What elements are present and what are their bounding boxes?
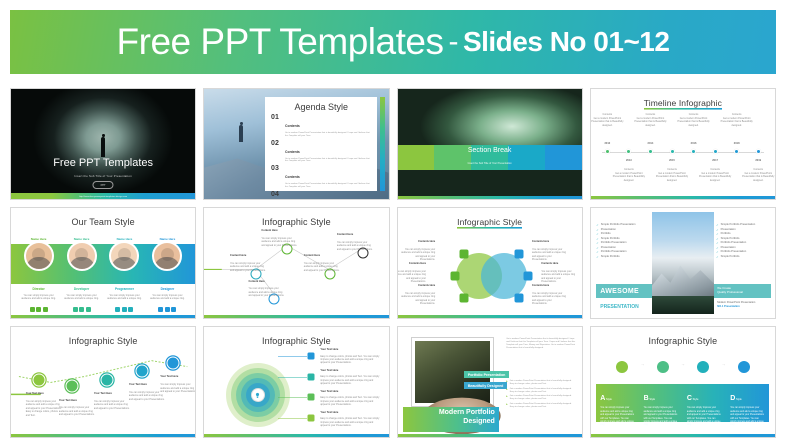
agenda-item[interactable]: 01 Contents Get a modern PowerPoint Pres…: [265, 112, 377, 138]
feature-text: Portfolio: [721, 232, 731, 236]
member-role: Programmer: [115, 287, 134, 291]
cart-icon[interactable]: [135, 365, 148, 378]
monitor-icon[interactable]: [459, 294, 468, 303]
network-connector-lines: [204, 208, 388, 311]
timeline-body: Get a modern PowerPoint Presentation tha…: [674, 117, 714, 127]
timeline-dot[interactable]: [648, 149, 653, 154]
abcd-style-word: Style: [692, 398, 699, 401]
bullet-dot-icon: ▸: [506, 403, 508, 409]
slide-thumbnail-12[interactable]: Infographic Style →→→ A StyleYou can sim…: [590, 326, 776, 438]
abcd-heading: D Style: [730, 387, 765, 405]
member-role: Developer: [74, 287, 89, 291]
agenda-card: Agenda Style 01 Contents Get a modern Po…: [265, 97, 377, 192]
abcd-column[interactable]: A StyleYou can simply impress your audie…: [596, 384, 639, 421]
bullet-text: Get a modern PowerPoint Presentation tha…: [510, 395, 576, 401]
timeline-year: 2015: [669, 159, 675, 162]
node-label: Content Here: [248, 280, 286, 283]
step-label: Your Text Here: [59, 399, 95, 402]
headline-awesome: AWESOME: [596, 284, 651, 298]
step-body: You can simply impress your audience and…: [94, 400, 130, 410]
legend-body: Easy to change colors, photos and Text. …: [320, 375, 380, 385]
timeline-block: ContentsGet a modern PowerPoint Presenta…: [674, 113, 714, 127]
timeline-year: 2019: [755, 159, 761, 162]
tag-icon[interactable]: [100, 373, 113, 386]
slide-thumbnail-04[interactable]: Timeline Infographic 2012ContentsGet a m…: [590, 88, 776, 200]
abcd-heading: B Style: [644, 387, 679, 405]
tag-portfolio-presentation: Portfolio Presentation: [464, 371, 510, 378]
member-name: Name Here: [31, 237, 47, 241]
slide-title: Section Break: [398, 147, 582, 154]
agenda-body: Get a modern PowerPoint Presentation tha…: [285, 158, 372, 164]
feature-list-item: Simple Portfolio: [596, 255, 649, 260]
arrow-icon: →: [721, 362, 725, 367]
abcd-heading: C Style: [687, 387, 722, 405]
banner-dash: -: [443, 25, 463, 59]
member-body: You can simply impress your audience and…: [63, 294, 101, 301]
timeline-body: Get a modern PowerPoint Presentation tha…: [717, 117, 757, 127]
arrow-icon: →: [681, 362, 685, 367]
timeline-year: 2014: [648, 142, 654, 145]
timeline-body: Get a modern PowerPoint Presentation tha…: [652, 172, 692, 182]
node-body: You can simply impress your audience and…: [230, 262, 268, 272]
social-icons: [73, 307, 91, 312]
banner-subtitle: Slides No 01~12: [463, 26, 670, 58]
slide-thumbnail-07[interactable]: Infographic Style Contents HereYou can s…: [397, 207, 583, 319]
phone-icon[interactable]: [515, 250, 524, 259]
bullet-text: Get a modern PowerPoint Presentation tha…: [510, 388, 576, 394]
forest-shape: [652, 296, 715, 314]
timeline-dot[interactable]: [626, 149, 631, 154]
item-label: Contents Here: [401, 240, 435, 243]
banner-main-title: Free PPT Templates: [117, 21, 444, 63]
facebook-icon[interactable]: [158, 307, 163, 312]
slide-thumbnail-08[interactable]: Simple Portfolio PresentationPresentatio…: [590, 207, 776, 319]
feature-text: Portfolio Presentation: [721, 241, 747, 245]
node-body: You can simply impress your audience and…: [261, 237, 299, 247]
step-label: Your Text Here: [26, 392, 62, 395]
member-role: Director: [33, 287, 45, 291]
member-body: You can simply impress your audience and…: [105, 294, 143, 301]
linkedin-icon[interactable]: [43, 307, 48, 312]
legend-label: Your Text Here: [320, 390, 380, 393]
member-role: Designer: [161, 287, 175, 291]
footer-gradient-bar: [11, 315, 195, 318]
node-label: Content Here: [337, 233, 375, 236]
portfolio-bullets: ▸Get a modern PowerPoint Presentation th…: [506, 380, 576, 411]
portfolio-band: Modern Portfolio Designed: [403, 407, 499, 431]
item-label: Contents Here: [397, 262, 426, 265]
timeline-year: 2016: [691, 142, 697, 145]
agenda-label: Contents: [285, 175, 300, 179]
member-body: You can simply impress your audience and…: [20, 294, 58, 301]
abcd-body: You can simply impress your audience and…: [644, 407, 679, 428]
chat-icon[interactable]: [657, 361, 669, 373]
portfolio-body: Get a modern PowerPoint Presentation tha…: [506, 338, 576, 350]
avatar-body: [154, 257, 180, 269]
legend-connector: [278, 418, 307, 419]
footer-gradient-bar: [591, 434, 775, 437]
timeline-dot[interactable]: [756, 149, 761, 154]
member-name: Name Here: [160, 237, 176, 241]
slide-title: Infographic Style: [591, 336, 775, 346]
node-body: You can simply impress your audience and…: [304, 262, 342, 272]
slide-title: Timeline Infographic: [591, 98, 775, 111]
settings-icon[interactable]: [515, 294, 524, 303]
item-body: You can simply impress your audience and…: [532, 248, 566, 262]
timeline-dot[interactable]: [713, 149, 718, 154]
item-label: Contents Here: [541, 262, 575, 265]
agenda-label: Contents: [285, 124, 300, 128]
edge-gradient-strip: [380, 97, 385, 192]
agenda-number: 01: [271, 114, 282, 121]
timeline-body: Get a modern PowerPoint Presentation tha…: [609, 172, 649, 182]
abcd-column[interactable]: D StyleYou can simply impress your audie…: [726, 384, 769, 421]
step-body: You can simply impress your audience and…: [160, 383, 196, 393]
timeline-dot[interactable]: [691, 149, 696, 154]
bullet-dot-icon: ▸: [506, 395, 508, 401]
legend-label: Your Text Here: [320, 369, 380, 372]
user-icon[interactable]: [616, 361, 628, 373]
slide-thumbnail-02[interactable]: Agenda Style 01 Contents Get a modern Po…: [203, 88, 389, 200]
bullet-dot-icon: ▸: [506, 388, 508, 394]
alert-icon[interactable]: [738, 361, 750, 373]
abcd-style-word: Style: [649, 398, 656, 401]
item-label: Contents Here: [401, 284, 435, 287]
timeline-dot[interactable]: [734, 149, 739, 154]
shopping-bag-icon[interactable]: [65, 380, 78, 393]
band-line-2: Designed: [407, 418, 495, 427]
timeline-year: 2017: [712, 159, 718, 162]
arrow-icon: →: [640, 362, 644, 367]
timeline-block: ContentsGet a modern PowerPoint Presenta…: [652, 168, 692, 182]
abcd-style-word: Style: [605, 398, 612, 401]
agenda-item[interactable]: 04 Contents Get a modern PowerPoint Pres…: [265, 189, 377, 200]
agenda-number: 04: [271, 191, 282, 198]
avatar[interactable]: [152, 241, 182, 271]
node-label: Content Here: [304, 254, 342, 257]
timeline-body: Get a modern PowerPoint Presentation tha…: [590, 117, 628, 127]
item-label: Contents Here: [532, 284, 566, 287]
facebook-icon[interactable]: [30, 307, 35, 312]
timeline-block: ContentsGet a modern PowerPoint Presenta…: [738, 168, 776, 182]
timeline-body: Get a modern PowerPoint Presentation tha…: [695, 172, 735, 182]
timeline-block: ContentsGet a modern PowerPoint Presenta…: [590, 113, 628, 127]
agenda-item[interactable]: 02 Contents Get a modern PowerPoint Pres…: [265, 138, 377, 164]
slide-thumbnail-06[interactable]: Infographic Style Content HereYou can si…: [203, 207, 389, 319]
linkedin-icon[interactable]: [86, 307, 91, 312]
header-banner: Free PPT Templates - Slides No 01~12: [10, 10, 776, 74]
shirt-icon[interactable]: [167, 357, 180, 370]
facebook-icon[interactable]: [115, 307, 120, 312]
slide-thumbnail-03[interactable]: Section Break Insert the Sub Title of Yo…: [397, 88, 583, 200]
megaphone-icon[interactable]: [308, 373, 315, 380]
twitter-icon[interactable]: [36, 307, 41, 312]
feature-list-item: Simple Portfolio: [716, 255, 771, 260]
agenda-number: 03: [271, 165, 282, 172]
timeline-body: Get a modern PowerPoint Presentation tha…: [630, 117, 670, 127]
briefcase-icon[interactable]: [450, 272, 459, 281]
timeline-dot[interactable]: [670, 149, 675, 154]
social-icons: [115, 307, 133, 312]
slide-title: Our Team Style: [11, 217, 195, 227]
slide-title: Infographic Style: [398, 217, 582, 230]
social-icons: [158, 307, 176, 312]
subhead-presentation: PRESENTATION: [596, 300, 651, 313]
legend-connector: [278, 356, 307, 357]
bullet-item: ▸Get a modern PowerPoint Presentation th…: [506, 388, 576, 394]
left-feature-list: Simple Portfolio PresentationPresentatio…: [596, 223, 649, 259]
avatar[interactable]: [24, 241, 54, 271]
timeline-year: 2018: [734, 142, 740, 145]
chat-icon[interactable]: [32, 373, 45, 386]
feature-text: Portfolio Presentation: [601, 250, 627, 254]
bullet-text: Get a modern PowerPoint Presentation tha…: [510, 380, 576, 386]
feature-text: Simple Portfolio: [721, 255, 740, 259]
slide-title: Agenda Style: [265, 97, 377, 112]
agenda-body: Get a modern PowerPoint Presentation tha…: [285, 132, 372, 138]
video-icon[interactable]: [697, 361, 709, 373]
abcd-column[interactable]: C StyleYou can simply impress your audie…: [683, 384, 726, 421]
bullet-dot-icon: ▸: [506, 380, 508, 386]
footer-url-text: http://www.free-powerpoint-templates-des…: [11, 196, 195, 198]
slide-grid: Free PPT Templates Insert the Sub Title …: [10, 88, 776, 438]
slide-thumbnail-09[interactable]: Infographic Style Your Text HereYou can …: [10, 326, 196, 438]
bullet-text: Get a modern PowerPoint Presentation tha…: [510, 403, 576, 409]
page-root: Free PPT Templates - Slides No 01~12 Fre…: [0, 0, 786, 445]
node-body: You can simply impress your audience and…: [337, 241, 375, 251]
item-body: You can simply impress your audience and…: [401, 292, 435, 306]
social-icons: [30, 307, 48, 312]
silhouette-figure-icon: [239, 125, 243, 142]
footer-gradient-bar: [398, 434, 582, 437]
timeline-year: 2012: [604, 142, 610, 145]
member-name: Name Here: [74, 237, 90, 241]
bullet-item: ▸Get a modern PowerPoint Presentation th…: [506, 380, 576, 386]
abcd-body: You can simply impress your audience and…: [687, 407, 722, 428]
feature-text: Simple Portfolio Presentation: [721, 223, 756, 227]
item-body: You can simply impress your audience and…: [401, 248, 435, 262]
footer-gradient-bar: [11, 434, 195, 437]
slide-thumbnail-10[interactable]: Infographic Style Your Text HereEasy to …: [203, 326, 389, 438]
briefcase-icon[interactable]: [308, 352, 315, 359]
member-name: Name Here: [117, 237, 133, 241]
abcd-column[interactable]: B StyleYou can simply impress your audie…: [640, 384, 683, 421]
timeline-block: ContentsGet a modern PowerPoint Presenta…: [630, 113, 670, 127]
agenda-number: 02: [271, 140, 282, 147]
agenda-item[interactable]: 03 Contents Get a modern PowerPoint Pres…: [265, 163, 377, 189]
avatar-body: [69, 257, 95, 269]
timeline-block: ContentsGet a modern PowerPoint Presenta…: [717, 113, 757, 127]
item-body: You can simply impress your audience and…: [541, 270, 575, 284]
legend-body: Easy to change colors, photos and Text. …: [320, 355, 380, 365]
twitter-icon[interactable]: [122, 307, 127, 312]
silhouette-figure-icon: [101, 137, 105, 157]
linkedin-icon[interactable]: [171, 307, 176, 312]
chat-icon[interactable]: [308, 394, 315, 401]
twitter-icon[interactable]: [165, 307, 170, 312]
item-label: Contents Here: [532, 240, 566, 243]
lightbulb-icon: [251, 388, 265, 402]
avatar-body: [111, 257, 137, 269]
footer-gradient-bar: [591, 196, 775, 199]
avatar[interactable]: [67, 241, 97, 271]
globe-icon[interactable]: [524, 272, 533, 281]
agenda-label: Contents: [285, 150, 300, 154]
node-label: Content Here: [230, 254, 268, 257]
book-icon[interactable]: [308, 415, 315, 422]
right-note-block: Modern PowerPoint Presentation NO.1 Pres…: [714, 300, 771, 313]
node-label: Content Here: [261, 229, 299, 232]
feature-text: Portfolio: [601, 232, 611, 236]
abcd-heading: A Style: [600, 387, 635, 405]
footer-gradient-bar: [204, 315, 388, 318]
feature-text: Portfolio Presentation: [721, 250, 747, 254]
slide-title: Infographic Style: [204, 336, 388, 346]
canyon-photo: [398, 89, 582, 199]
timeline-block: ContentsGet a modern PowerPoint Presenta…: [609, 168, 649, 182]
abcd-body: You can simply impress your audience and…: [730, 407, 765, 428]
agenda-body: Get a modern PowerPoint Presentation tha…: [285, 183, 372, 189]
legend-connector: [278, 397, 307, 398]
step-body: You can simply impress your audience and…: [59, 406, 95, 416]
slide-thumbnail-11[interactable]: Portfolio Presentation Beautifully Desig…: [397, 326, 583, 438]
linkedin-icon[interactable]: [128, 307, 133, 312]
right-callout: We Create Quality Professional: [714, 284, 771, 298]
band-line-1: Modern Portfolio: [407, 409, 495, 418]
facebook-icon[interactable]: [73, 307, 78, 312]
footer-gradient-bar: [398, 196, 582, 199]
legend-label: Your Text Here: [320, 348, 380, 351]
avatar[interactable]: [109, 241, 139, 271]
node-body: You can simply impress your audience and…: [248, 287, 286, 297]
bullet-item: ▸Get a modern PowerPoint Presentation th…: [506, 403, 576, 409]
abcd-style-word: Style: [735, 398, 742, 401]
right-line-2: Quality Professional: [717, 290, 768, 294]
item-body: You can simply impress your audience and…: [397, 270, 426, 284]
legend-body: Easy to change colors, photos and Text. …: [320, 396, 380, 406]
feature-text: Simple Portfolio Presentation: [601, 223, 636, 227]
right-feature-list: Simple Portfolio PresentationPresentatio…: [716, 223, 771, 259]
slide-title: Free PPT Templates: [11, 157, 195, 169]
legend-label: Your Text Here: [320, 411, 380, 414]
twitter-icon[interactable]: [79, 307, 84, 312]
slide-thumbnail-05[interactable]: Our Team Style Name HereDirectorYou can …: [10, 207, 196, 319]
tag-beautifully-designed: Beautifully Designed: [464, 382, 508, 389]
footer-gradient-bar: [204, 434, 388, 437]
footer-gradient-bar: [398, 315, 582, 318]
step-label: Your Text Here: [160, 375, 196, 378]
gift-icon[interactable]: [459, 250, 468, 259]
feature-text: Simple Portfolio: [601, 255, 620, 259]
ppt-button[interactable]: PPT: [93, 181, 114, 189]
avatar-body: [26, 257, 52, 269]
item-body: You can simply impress your audience and…: [532, 292, 566, 306]
legend-body: Easy to change colors, photos and Text. …: [320, 417, 380, 427]
timeline-year: 2013: [626, 159, 632, 162]
slide-subtitle: Insert the Sub Title of Your Presentatio…: [398, 162, 582, 165]
slide-subtitle: Insert the Sub Title of Your Presentatio…: [11, 174, 195, 178]
right-highlight: NO.1 Presentation: [717, 305, 768, 309]
slide-thumbnail-01[interactable]: Free PPT Templates Insert the Sub Title …: [10, 88, 196, 200]
venn-circle-right: [481, 253, 527, 299]
timeline-body: Get a modern PowerPoint Presentation tha…: [738, 172, 776, 182]
abcd-band: A StyleYou can simply impress your audie…: [596, 384, 769, 421]
step-label: Your Text Here: [94, 392, 130, 395]
bullet-item: ▸Get a modern PowerPoint Presentation th…: [506, 395, 576, 401]
abcd-body: You can simply impress your audience and…: [600, 407, 635, 428]
timeline-block: ContentsGet a modern PowerPoint Presenta…: [695, 168, 735, 182]
timeline-dot[interactable]: [605, 149, 610, 154]
step-body: You can simply impress your audience and…: [26, 400, 62, 417]
feature-text: Portfolio Presentation: [601, 241, 627, 245]
member-body: You can simply impress your audience and…: [148, 294, 186, 301]
legend-connector: [278, 377, 307, 378]
